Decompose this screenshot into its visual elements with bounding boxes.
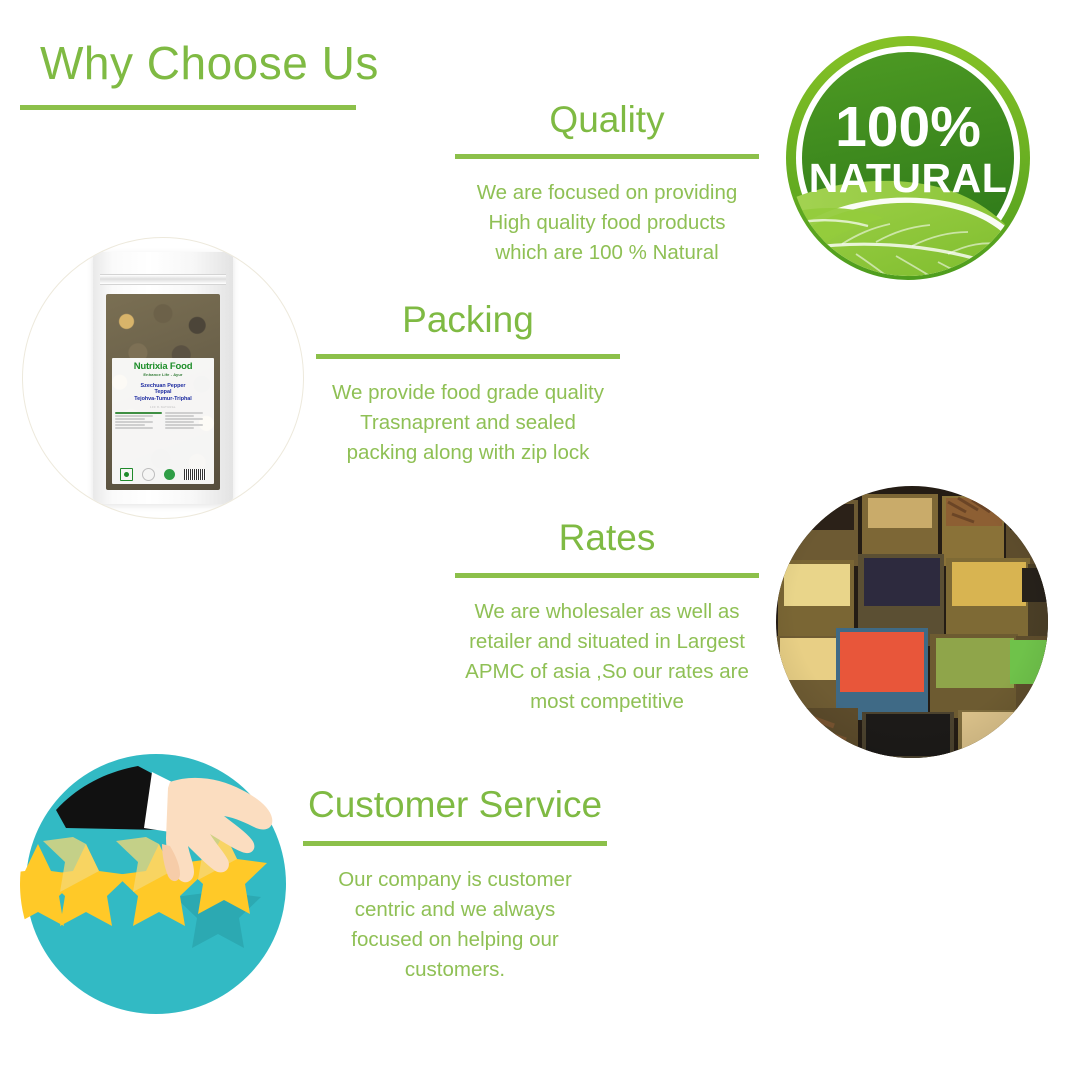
section-body-line: We are focused on providing xyxy=(435,178,779,208)
section-body-customer-service: Our company is customer centric and we a… xyxy=(283,865,627,985)
pouch-label-textline xyxy=(115,424,145,426)
pouch-label-column-right xyxy=(165,412,212,430)
pouch-label-textline xyxy=(165,412,203,414)
barcode-icon xyxy=(184,469,206,480)
badge-natural-text: NATURAL xyxy=(809,155,1008,201)
pouch-label-textline xyxy=(115,415,153,417)
pouch-label-tagline: Enhance Life - Ayur xyxy=(115,372,211,378)
five-star-rating-hand-illustration xyxy=(20,748,292,1020)
pouch-label-detail-columns xyxy=(115,412,211,430)
section-body-quality: We are focused on providing High quality… xyxy=(435,178,779,268)
customer-service-svg xyxy=(20,748,292,1020)
section-heading-quality: Quality xyxy=(455,101,759,138)
section-body-line: Our company is customer xyxy=(283,865,627,895)
vegetarian-mark-icon xyxy=(120,468,133,481)
section-body-rates: We are wholesaler as well as retailer an… xyxy=(435,597,779,717)
section-heading-customer-service: Customer Service xyxy=(303,786,607,823)
section-body-line: packing along with zip lock xyxy=(296,438,640,468)
pouch-label-textline xyxy=(165,415,195,417)
spice-market-svg xyxy=(776,486,1048,758)
pouch-label-textline xyxy=(165,427,195,429)
spice-market-photo xyxy=(776,486,1048,758)
section-body-line: APMC of asia ,So our rates are xyxy=(435,657,779,687)
pouch-label-product-name: Szechuan Pepper Teppal Tejohva-Tumur-Tri… xyxy=(115,383,211,402)
section-rule-customer-service xyxy=(303,841,607,846)
fssai-mark-icon xyxy=(164,469,175,480)
why-choose-us-infographic: Why Choose Us Quality We are focused on … xyxy=(0,0,1080,1080)
pouch-label-textline xyxy=(115,421,153,423)
section-body-line: which are 100 % Natural xyxy=(435,238,779,268)
section-body-line: centric and we always xyxy=(283,895,627,925)
section-body-packing: We provide food grade quality Trasnapren… xyxy=(296,378,640,468)
page-title-underline xyxy=(20,105,356,110)
section-body-line: most competitive xyxy=(435,687,779,717)
section-body-line: customers. xyxy=(283,955,627,985)
pouch-graphic: Nutrixia Food Enhance Life - Ayur Szechu… xyxy=(93,252,233,504)
pouch-label-textline xyxy=(165,421,195,423)
section-rule-rates xyxy=(455,573,759,578)
hundred-percent-natural-badge: 100% NATURAL xyxy=(772,22,1044,294)
pouch-label-product-line: Tejohva-Tumur-Triphal xyxy=(115,396,211,402)
page-title: Why Choose Us xyxy=(40,40,379,86)
section-rule-packing xyxy=(316,354,620,359)
pouch-label-textline xyxy=(115,412,162,414)
natural-badge-svg: 100% NATURAL xyxy=(772,22,1044,294)
pouch-label-textline xyxy=(115,427,153,429)
product-pouch-image: Nutrixia Food Enhance Life - Ayur Szechu… xyxy=(22,237,304,519)
pouch-label-textline xyxy=(165,418,203,420)
section-body-line: retailer and situated in Largest xyxy=(435,627,779,657)
section-body-line: High quality food products xyxy=(435,208,779,238)
section-body-line: We are wholesaler as well as xyxy=(435,597,779,627)
pouch-label-textline xyxy=(165,424,203,426)
pouch-ziplock xyxy=(100,274,226,285)
pouch-label-natural-note: 100 % NATURAL xyxy=(115,405,211,410)
section-body-line: We provide food grade quality xyxy=(296,378,640,408)
pouch-label-brand: Nutrixia Food xyxy=(115,362,211,372)
pouch-label-textline xyxy=(115,418,145,420)
recycle-mark-icon xyxy=(142,468,155,481)
section-heading-packing: Packing xyxy=(316,301,620,338)
section-rule-quality xyxy=(455,154,759,159)
spice-photo-shading xyxy=(776,486,1048,758)
section-body-line: Trasnaprent and sealed xyxy=(296,408,640,438)
pouch-label-column-left xyxy=(115,412,162,430)
badge-percent-text: 100% xyxy=(835,95,981,159)
pouch-label-certification-badges xyxy=(116,468,210,481)
section-heading-rates: Rates xyxy=(455,519,759,556)
pouch-label: Nutrixia Food Enhance Life - Ayur Szechu… xyxy=(112,358,214,484)
section-body-line: focused on helping our xyxy=(283,925,627,955)
